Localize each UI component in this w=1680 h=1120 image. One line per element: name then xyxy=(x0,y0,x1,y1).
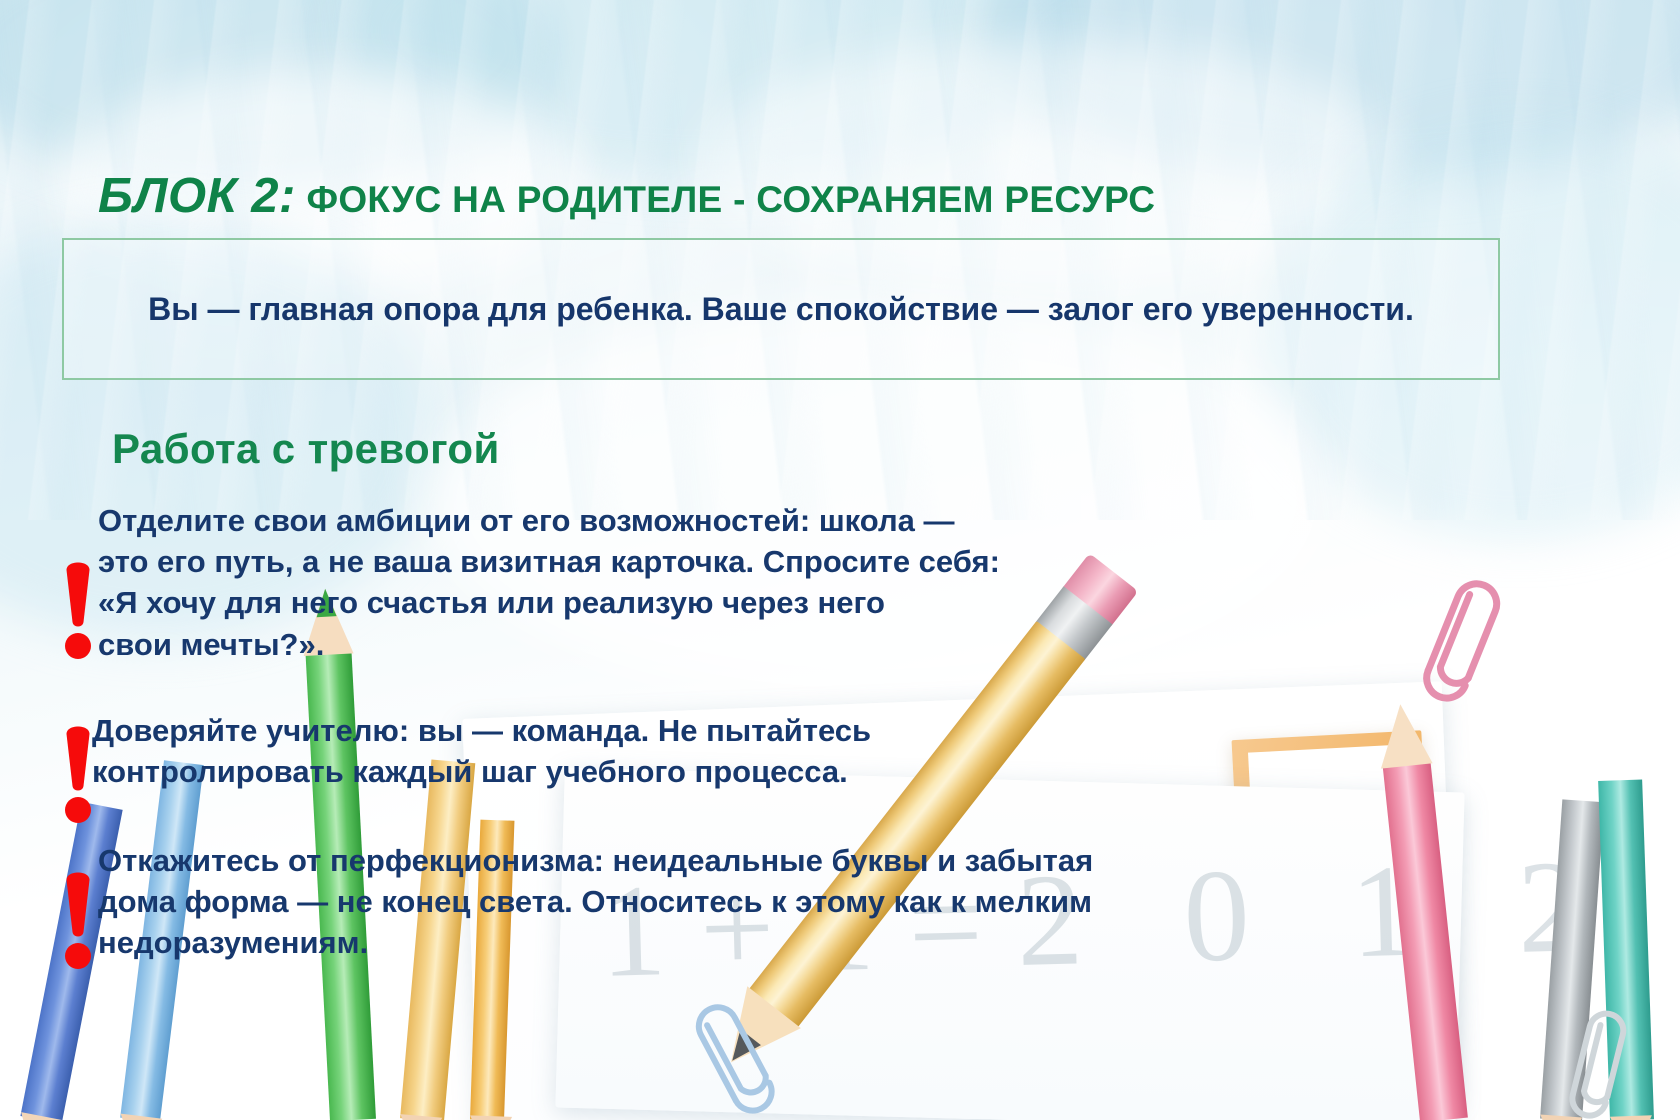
exclamation-icon xyxy=(58,862,98,970)
page-title: БЛОК 2: ФОКУС НА РОДИТЕЛЕ - СОХРАНЯЕМ РЕ… xyxy=(98,172,1518,221)
callout-text: Вы — главная опора для ребенка. Ваше спо… xyxy=(136,289,1426,330)
slide-canvas: 1+1=2 0 1 2 3 xyxy=(0,0,1680,1120)
paperclip-icon xyxy=(1540,990,1660,1120)
section-heading: Работа с тревогой xyxy=(112,425,500,473)
wooden-pencil-icon xyxy=(747,621,1085,1030)
bullet-text: Доверяйте учителю: вы — команда. Не пыта… xyxy=(92,710,871,792)
callout-box: Вы — главная опора для ребенка. Ваше спо… xyxy=(62,238,1500,380)
background-wash xyxy=(980,0,1680,180)
bullet-text: Откажитесь от перфекционизма: неидеальны… xyxy=(98,840,1093,964)
exclamation-icon xyxy=(58,552,98,660)
bullet-text: Отделите свои амбиции от его возможносте… xyxy=(98,500,1000,665)
paperclip-icon xyxy=(660,975,810,1120)
page-title-rest: ФОКУС НА РОДИТЕЛЕ - СОХРАНЯЕМ РЕСУРС xyxy=(296,179,1155,220)
background-wash xyxy=(340,0,1100,180)
bullet-item: Отделите свои амбиции от его возможносте… xyxy=(50,500,1530,665)
bullet-item: Доверяйте учителю: вы — команда. Не пыта… xyxy=(50,710,1530,792)
exclamation-icon xyxy=(58,716,98,824)
bullet-item: Откажитесь от перфекционизма: неидеальны… xyxy=(50,840,1610,964)
background-wash xyxy=(0,0,560,190)
page-title-emphasis: БЛОК 2: xyxy=(98,169,296,223)
